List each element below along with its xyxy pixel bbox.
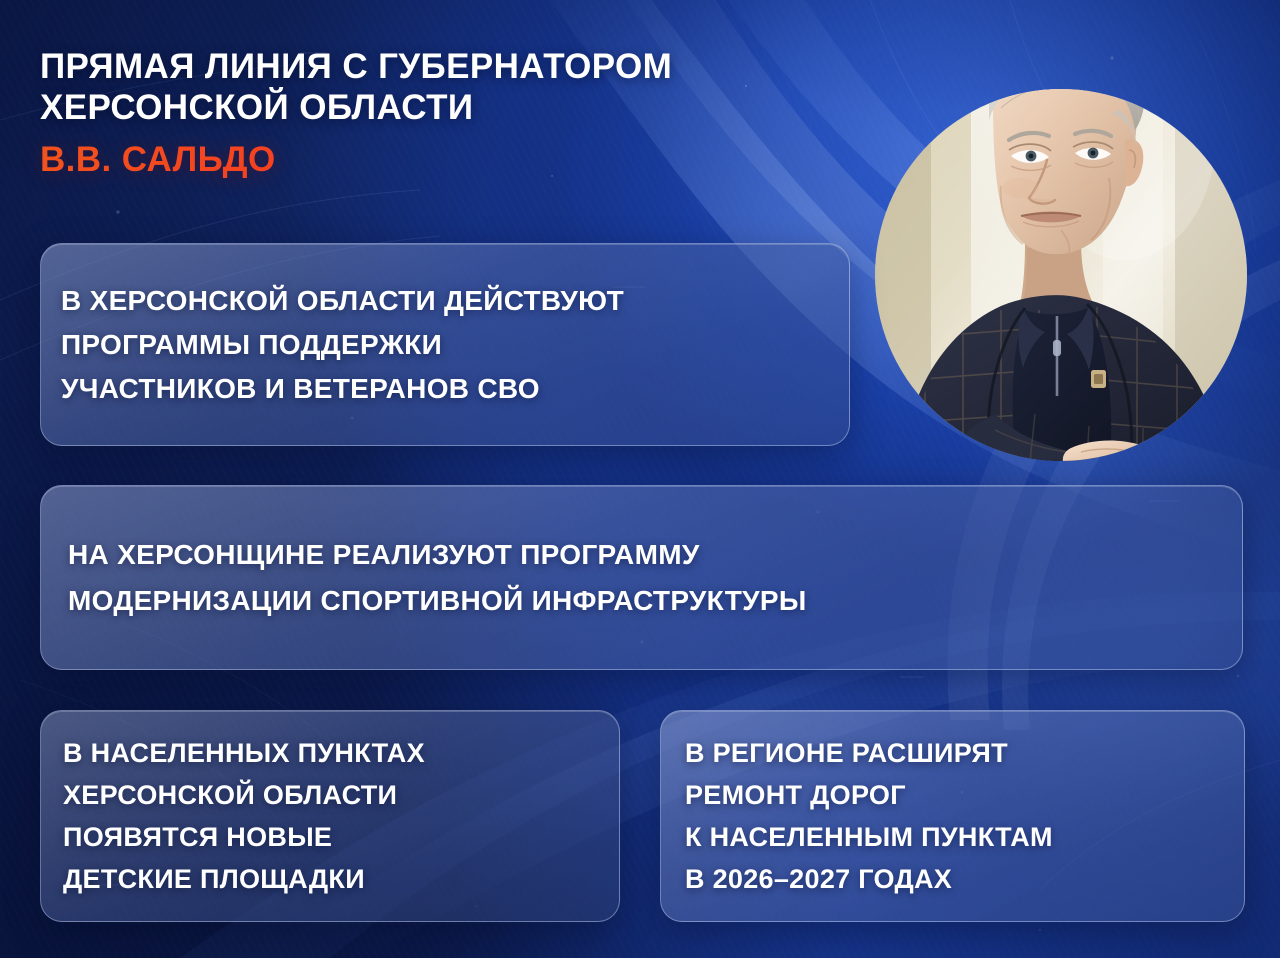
headline-line-1: ПРЯМАЯ ЛИНИЯ С ГУБЕРНАТОРОМ bbox=[40, 46, 870, 87]
headline-line-2: ХЕРСОНСКОЙ ОБЛАСТИ bbox=[40, 87, 870, 128]
infographic-poster: ПРЯМАЯ ЛИНИЯ С ГУБЕРНАТОРОМ ХЕРСОНСКОЙ О… bbox=[0, 0, 1280, 958]
card-support-programs: В ХЕРСОНСКОЙ ОБЛАСТИ ДЕЙСТВУЮТ ПРОГРАММЫ… bbox=[40, 243, 850, 446]
card-new-playgrounds-text: В НАСЕЛЕННЫХ ПУНКТАХ ХЕРСОНСКОЙ ОБЛАСТИ … bbox=[63, 732, 605, 900]
card-sport-infrastructure: НА ХЕРСОНЩИНЕ РЕАЛИЗУЮТ ПРОГРАММУ МОДЕРН… bbox=[40, 485, 1243, 670]
portrait-circle-mask bbox=[875, 10, 1247, 480]
card-new-playgrounds: В НАСЕЛЕННЫХ ПУНКТАХ ХЕРСОНСКОЙ ОБЛАСТИ … bbox=[40, 710, 620, 922]
card-road-repair: В РЕГИОНЕ РАСШИРЯТ РЕМОНТ ДОРОГ К НАСЕЛЕ… bbox=[660, 710, 1245, 922]
card-road-repair-text: В РЕГИОНЕ РАСШИРЯТ РЕМОНТ ДОРОГ К НАСЕЛЕ… bbox=[685, 732, 1232, 900]
card-sport-infrastructure-text: НА ХЕРСОНЩИНЕ РЕАЛИЗУЮТ ПРОГРАММУ МОДЕРН… bbox=[68, 532, 1224, 624]
governor-name: В.В. САЛЬДО bbox=[40, 139, 870, 181]
portrait-illustration bbox=[875, 10, 1247, 480]
governor-portrait bbox=[875, 10, 1247, 480]
card-support-programs-text: В ХЕРСОНСКОЙ ОБЛАСТИ ДЕЙСТВУЮТ ПРОГРАММЫ… bbox=[61, 279, 831, 411]
poster-headline: ПРЯМАЯ ЛИНИЯ С ГУБЕРНАТОРОМ ХЕРСОНСКОЙ О… bbox=[40, 46, 870, 181]
